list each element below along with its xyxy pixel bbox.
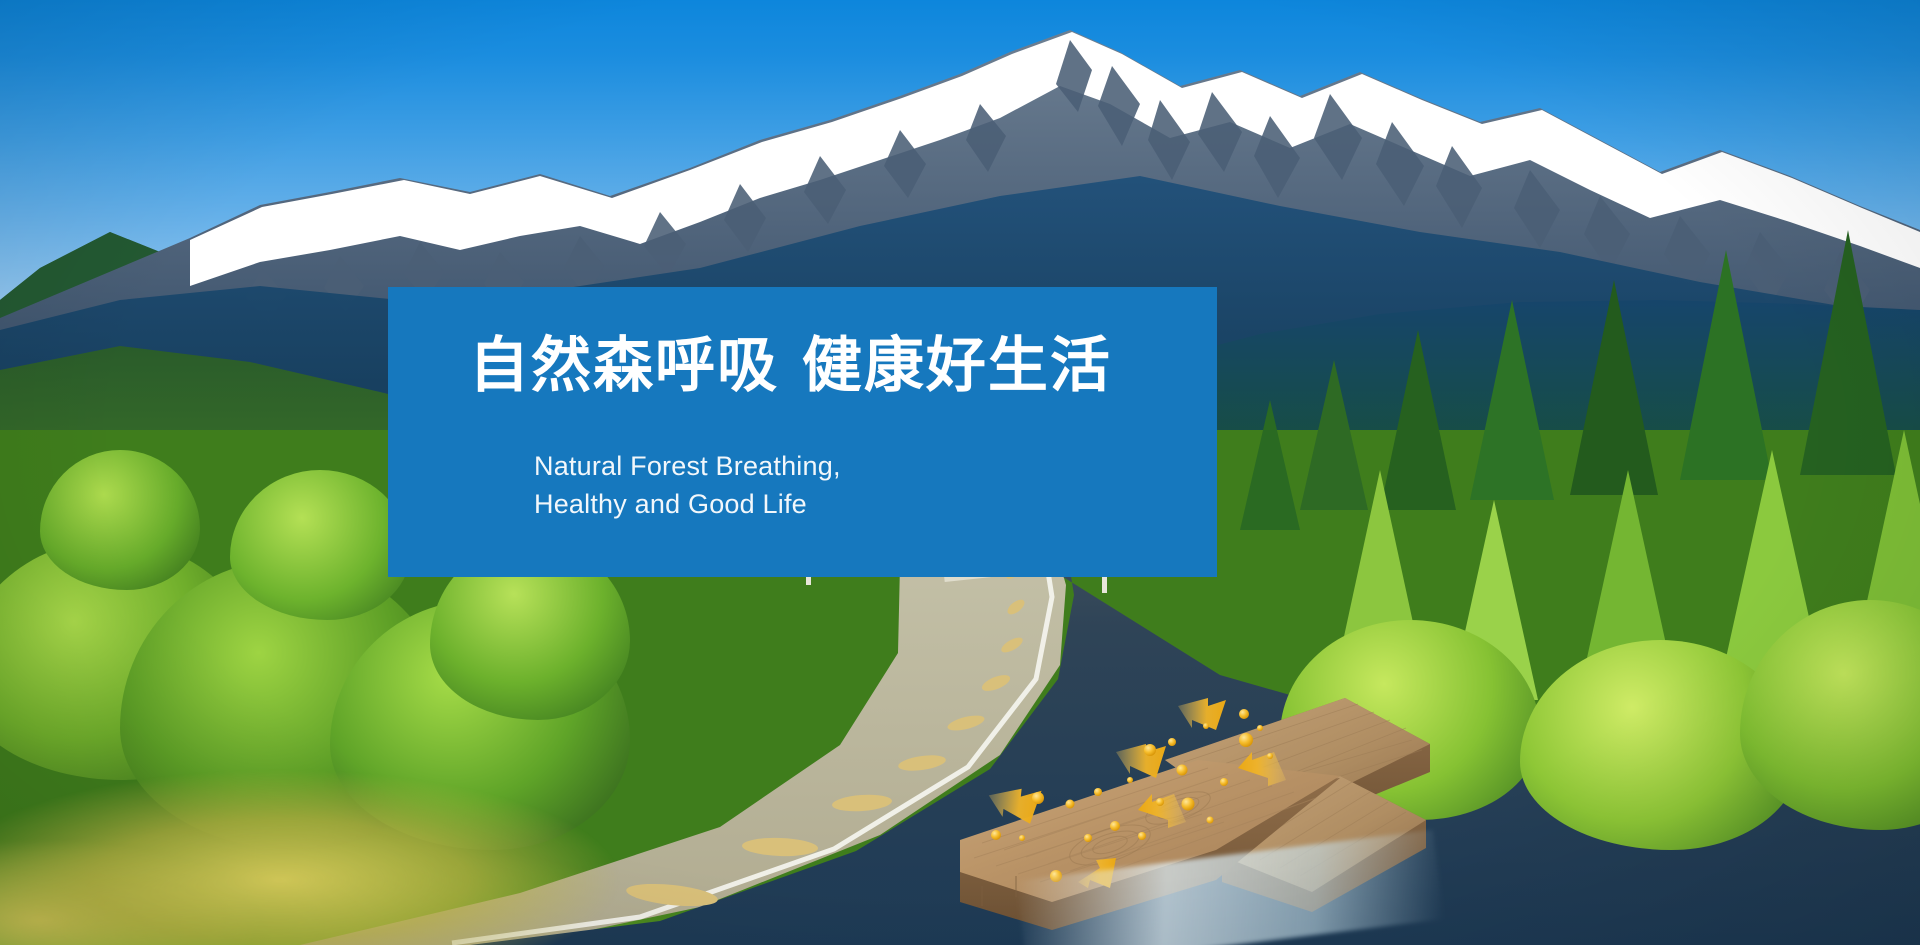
subtitle-block: Natural Forest Breathing, Healthy and Go… — [534, 447, 841, 524]
conifer-tree — [1240, 400, 1300, 530]
conifer-tree — [1680, 250, 1772, 480]
conifer-tree — [1470, 300, 1554, 500]
golden-grass-foreground — [0, 760, 620, 945]
hero-banner: 自然森呼吸 健康好生活 Natural Forest Breathing, He… — [0, 0, 1920, 945]
conifer-tree — [1570, 280, 1658, 495]
page-title: 自然森呼吸 健康好生活 — [469, 332, 1112, 401]
headline-panel: 自然森呼吸 健康好生活 Natural Forest Breathing, He… — [388, 287, 1217, 577]
subtitle-line-2: Healthy and Good Life — [534, 485, 841, 523]
subtitle-line-1: Natural Forest Breathing, — [534, 447, 841, 485]
